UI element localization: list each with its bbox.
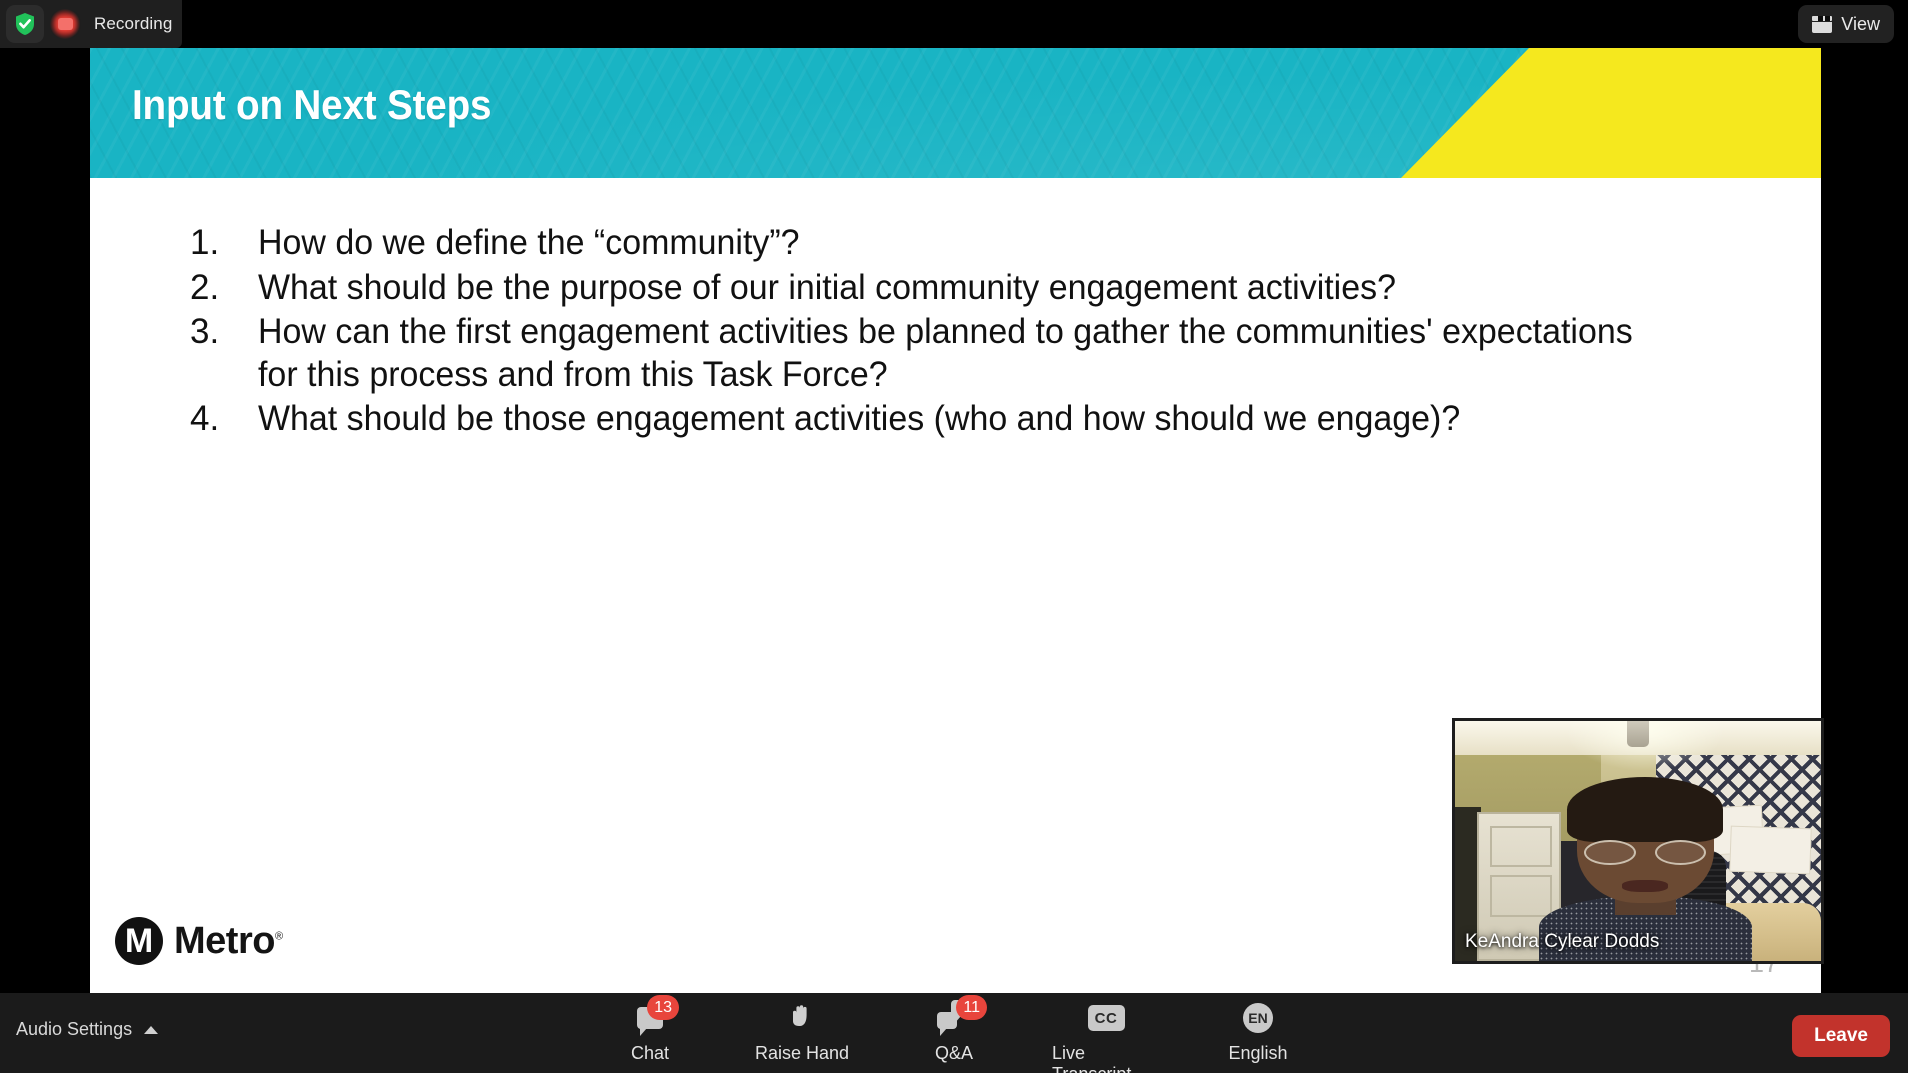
closed-caption-icon: CC (1088, 1001, 1125, 1035)
list-item-text: How do we define the “community”? (258, 222, 1666, 265)
view-button[interactable]: View (1798, 5, 1894, 43)
glasses-icon (1584, 840, 1706, 865)
qa-button[interactable]: 11 Q&A (900, 1001, 1008, 1064)
chat-button[interactable]: 13 Chat (596, 1001, 704, 1064)
qa-unread-badge: 11 (956, 995, 987, 1020)
raise-hand-button[interactable]: Raise Hand (748, 1001, 856, 1064)
participant-mouth (1622, 880, 1668, 892)
language-en-icon: EN (1243, 1001, 1273, 1035)
ceiling-light (1627, 721, 1649, 747)
question-list: 1. How do we define the “community”? 2. … (190, 222, 1710, 441)
list-item-number: 3. (190, 311, 258, 354)
live-transcript-button[interactable]: CC Live Transcript (1052, 1001, 1160, 1073)
language-label: English (1228, 1043, 1287, 1064)
recording-label: Recording (94, 14, 172, 34)
qa-label: Q&A (935, 1043, 973, 1064)
metro-wordmark-text: Metro (174, 920, 275, 962)
metro-logo: M Metro® (115, 917, 283, 965)
leave-button[interactable]: Leave (1792, 1015, 1890, 1057)
chevron-up-icon[interactable] (144, 1026, 158, 1034)
participant-video-tile[interactable]: KeAndra Cylear Dodds (1452, 718, 1824, 964)
list-item: 1. How do we define the “community”? (190, 222, 1710, 265)
recording-dot-icon[interactable] (48, 7, 82, 41)
chat-label: Chat (631, 1043, 669, 1064)
wall-art-2 (1729, 825, 1811, 873)
list-item-text: How can the first engagement activities … (258, 311, 1666, 396)
shield-check-icon[interactable] (6, 5, 44, 43)
list-item-number: 1. (190, 222, 258, 265)
participant-hair (1567, 777, 1723, 842)
metro-wordmark: Metro® (174, 920, 283, 963)
slide-title: Input on Next Steps (132, 81, 491, 129)
question-answer-bubbles-icon: 11 (937, 1001, 971, 1035)
zoom-meeting-window: Recording View Input on Next Steps 1. Ho… (0, 0, 1908, 1073)
chat-bubble-icon: 13 (637, 1001, 663, 1035)
raise-hand-label: Raise Hand (755, 1043, 849, 1064)
video-feed (1455, 721, 1821, 961)
live-transcript-label: Live Transcript (1052, 1043, 1160, 1073)
list-item-text: What should be those engagement activiti… (258, 398, 1666, 441)
list-item-number: 4. (190, 398, 258, 441)
audio-settings-label: Audio Settings (16, 1019, 132, 1040)
chat-unread-badge: 13 (647, 995, 679, 1020)
meeting-top-bar: Recording View (0, 0, 1908, 48)
list-item: 3. How can the first engagement activiti… (190, 311, 1710, 396)
audio-settings-button[interactable]: Audio Settings (16, 1019, 158, 1040)
recording-status-group: Recording (0, 0, 182, 48)
participant-name-label: KeAndra Cylear Dodds (1465, 931, 1659, 953)
list-item-text: What should be the purpose of our initia… (258, 267, 1666, 310)
toolbar-actions: 13 Chat Raise Hand 11 (596, 1001, 1312, 1073)
language-button[interactable]: EN English (1204, 1001, 1312, 1064)
layout-grid-icon (1812, 16, 1832, 33)
metro-m-icon: M (115, 917, 163, 965)
list-item: 2. What should be the purpose of our ini… (190, 267, 1710, 310)
list-item-number: 2. (190, 267, 258, 310)
view-button-label: View (1841, 14, 1880, 35)
raised-hand-icon (788, 1001, 816, 1035)
meeting-toolbar: Audio Settings 13 Chat Raise Hand (0, 993, 1908, 1073)
registered-mark: ® (275, 930, 283, 942)
slide-body: 1. How do we define the “community”? 2. … (90, 178, 1821, 443)
slide-banner: Input on Next Steps (90, 48, 1821, 178)
list-item: 4. What should be those engagement activ… (190, 398, 1710, 441)
